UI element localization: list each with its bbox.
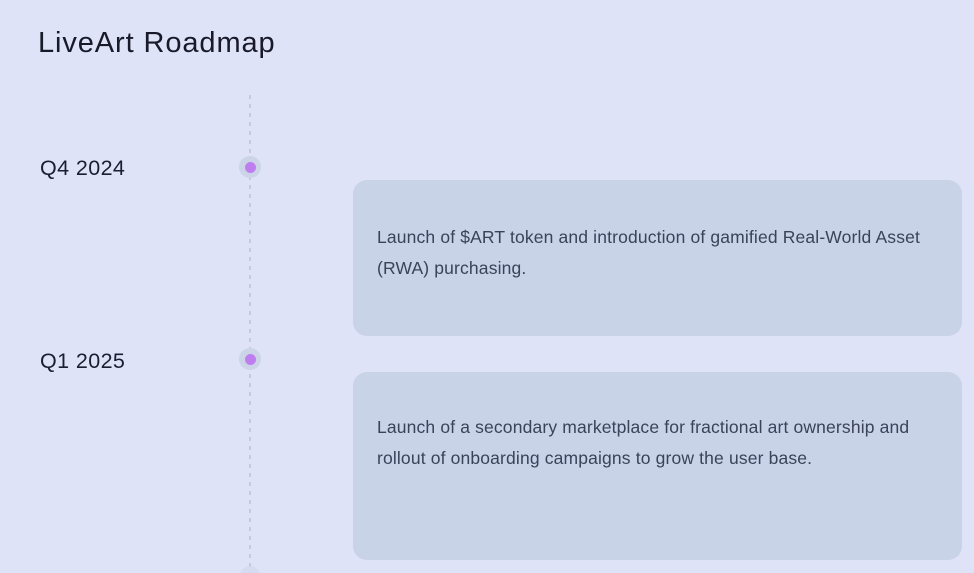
roadmap-section: LiveArt Roadmap Q4 2024 Launch of $ART t… [0,0,974,573]
timeline-dot-core-icon [245,354,256,365]
milestone-card: Launch of $ART token and introduction of… [353,180,962,336]
milestone-period-label: Q1 2025 [40,348,125,374]
milestone-description: Launch of a secondary marketplace for fr… [377,372,938,474]
timeline-dot-icon-partial [240,566,260,573]
page-title: LiveArt Roadmap [38,25,276,61]
milestone-period-label: Q4 2024 [40,155,125,181]
milestone-description: Launch of $ART token and introduction of… [377,180,938,284]
timeline-dot-icon [239,348,261,370]
timeline-dot-core-icon [245,162,256,173]
timeline-dot-icon [239,156,261,178]
milestone-card: Launch of a secondary marketplace for fr… [353,372,962,560]
